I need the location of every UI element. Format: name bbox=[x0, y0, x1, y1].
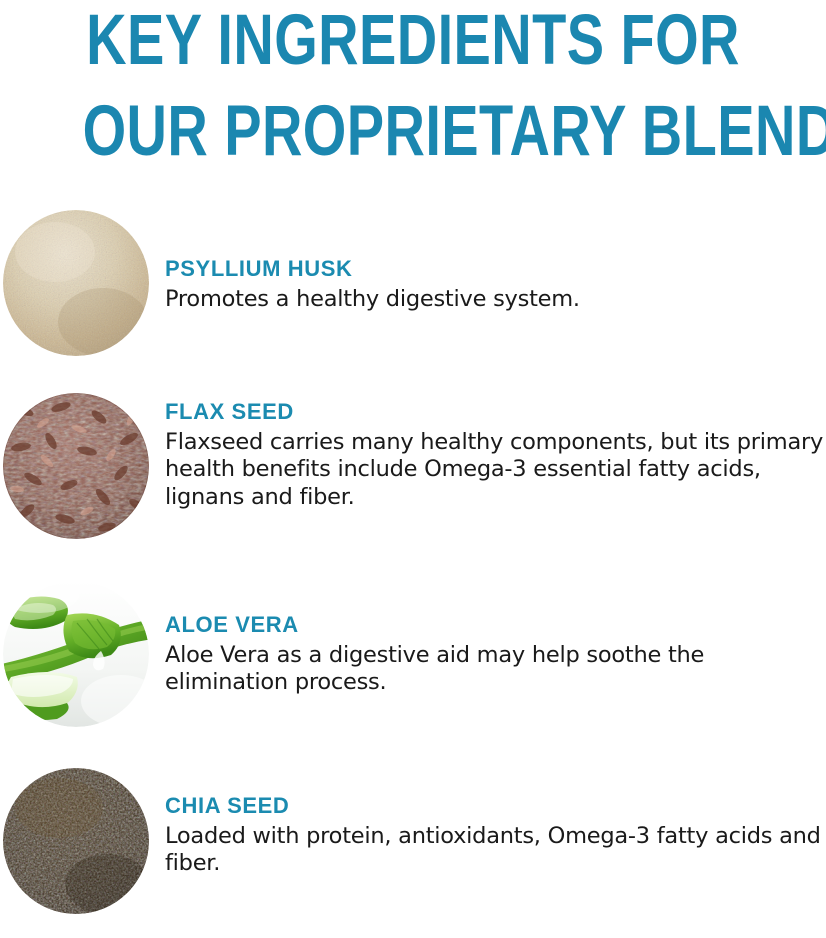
ingredient-item-aloe-vera: ALOE VERA Aloe Vera as a digestive aid m… bbox=[0, 578, 826, 758]
title-line-2: OUR PROPRIETARY BLEND bbox=[83, 97, 744, 166]
ingredient-name-chia-seed: CHIA SEED bbox=[165, 794, 826, 819]
chia-seed-text: CHIA SEED Loaded with protein, antioxida… bbox=[165, 794, 826, 878]
ingredient-name-flax-seed: FLAX SEED bbox=[165, 400, 826, 425]
chia-seed-thumbnail bbox=[3, 768, 149, 914]
aloe-vera-text: ALOE VERA Aloe Vera as a digestive aid m… bbox=[165, 613, 826, 697]
psyllium-husk-thumbnail bbox=[3, 210, 149, 356]
ingredient-description-flax-seed: Flaxseed carries many healthy components… bbox=[165, 429, 826, 511]
ingredient-item-flax-seed: FLAX SEED Flaxseed carries many healthy … bbox=[0, 380, 826, 578]
ingredient-description-aloe-vera: Aloe Vera as a digestive aid may help so… bbox=[165, 642, 785, 697]
ingredient-name-psyllium-husk: PSYLLIUM HUSK bbox=[165, 257, 826, 282]
ingredient-description-chia-seed: Loaded with protein, antioxidants, Omega… bbox=[165, 823, 826, 878]
flax-seed-text: FLAX SEED Flaxseed carries many healthy … bbox=[165, 400, 826, 511]
title-line-1: KEY INGREDIENTS FOR bbox=[83, 6, 744, 75]
ingredient-list: PSYLLIUM HUSK Promotes a healthy digesti… bbox=[0, 200, 826, 938]
psyllium-husk-text: PSYLLIUM HUSK Promotes a healthy digesti… bbox=[165, 257, 826, 313]
ingredient-item-psyllium-husk: PSYLLIUM HUSK Promotes a healthy digesti… bbox=[0, 200, 826, 380]
flax-seed-thumbnail bbox=[3, 393, 149, 539]
ingredient-item-chia-seed: CHIA SEED Loaded with protein, antioxida… bbox=[0, 758, 826, 938]
ingredient-name-aloe-vera: ALOE VERA bbox=[165, 613, 826, 638]
aloe-vera-thumbnail bbox=[3, 581, 149, 727]
page-title: KEY INGREDIENTS FOR OUR PROPRIETARY BLEN… bbox=[0, 0, 826, 164]
ingredient-description-psyllium-husk: Promotes a healthy digestive system. bbox=[165, 286, 826, 313]
